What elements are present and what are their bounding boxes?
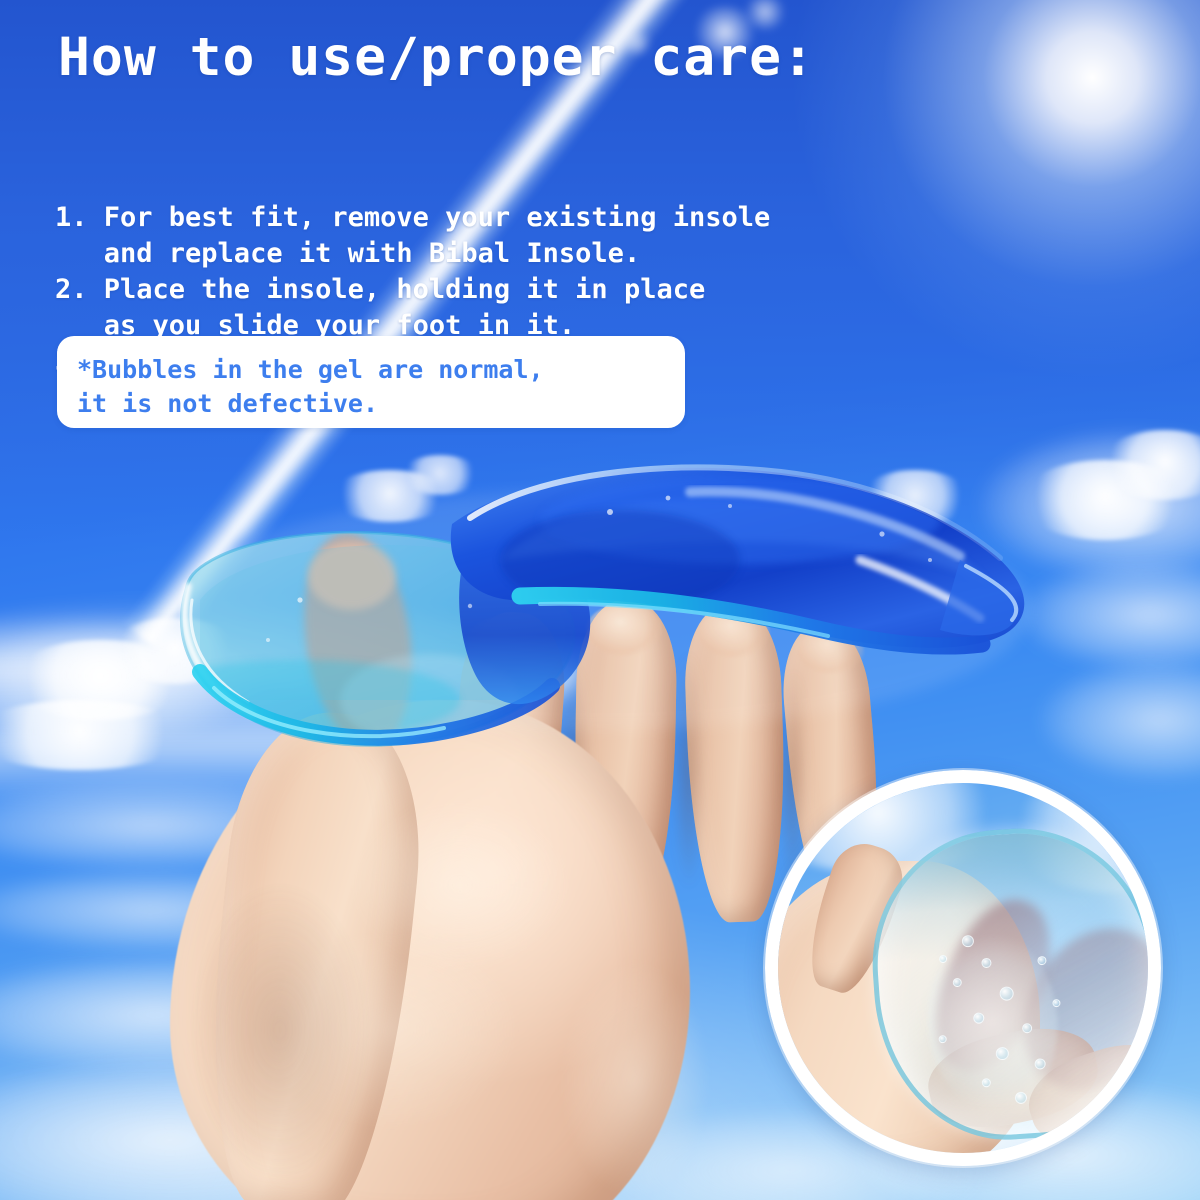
fingertip-index bbox=[466, 616, 546, 672]
inset-bubble-10 bbox=[1015, 1091, 1028, 1104]
infographic-page: How to use/proper care: 1. For best fit,… bbox=[0, 0, 1200, 1200]
palm-edge-light bbox=[560, 960, 710, 1200]
fingertip-middle bbox=[586, 604, 662, 656]
fingertip-ring bbox=[698, 608, 770, 658]
note-callout-box: *Bubbles in the gel are normal, it is no… bbox=[57, 336, 685, 428]
fingertip-little bbox=[798, 628, 864, 674]
palm-shadow-left bbox=[190, 880, 370, 1180]
page-title: How to use/proper care: bbox=[58, 30, 815, 86]
note-callout-text: *Bubbles in the gel are normal, it is no… bbox=[77, 353, 544, 421]
finger-gap-shadow-2 bbox=[672, 650, 706, 890]
zoom-inset-circle bbox=[765, 770, 1161, 1166]
